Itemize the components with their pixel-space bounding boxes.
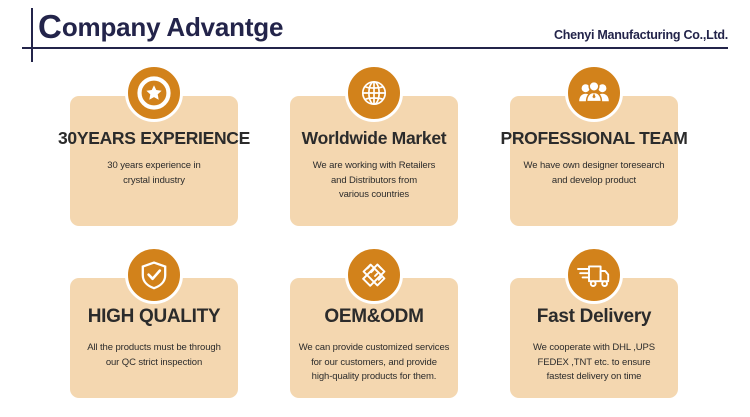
description-line: FEDEX ,TNT etc. to ensure [533,356,655,371]
advantage-card: OEM&ODM We can provide customized servic… [290,278,458,398]
page-header: Company Advantge Chenyi Manufacturing Co… [0,0,750,70]
description-line: 30 years experience in [107,159,200,174]
people-group-icon [565,64,623,122]
advantage-card-description: We cooperate with DHL ,UPS FEDEX ,TNT et… [533,341,655,385]
page-title-initial: C [38,8,62,45]
description-line: our QC strict inspection [87,356,221,371]
advantage-card-description: We have own designer toresearch and deve… [524,159,665,188]
globe-icon [345,64,403,122]
advantage-card: PROFESSIONAL TEAM We have own designer t… [510,96,678,226]
advantage-card-description: We can provide customized services for o… [299,341,450,385]
description-line: and develop product [524,174,665,189]
description-line: for our customers, and provide [299,356,450,371]
page-title-rest: ompany Advantge [62,12,283,42]
page-title: Company Advantge [38,9,283,45]
description-line: All the products must be through [87,341,221,356]
description-line: fastest delivery on time [533,370,655,385]
advantage-card-grid: 30YEARS EXPERIENCE 30 years experience i… [70,96,678,398]
advantage-card-title: HIGH QUALITY [88,306,221,328]
description-line: and Distributors from [313,174,436,189]
header-horizontal-rule [22,47,728,49]
description-line: We are working with Retailers [313,159,436,174]
advantage-card: 30YEARS EXPERIENCE 30 years experience i… [70,96,238,226]
company-name: Chenyi Manufacturing Co.,Ltd. [554,28,728,42]
advantage-card-title: 30YEARS EXPERIENCE [58,128,250,148]
description-line: high-quality products for them. [299,370,450,385]
advantage-card-title: Fast Delivery [537,306,651,328]
description-line: We can provide customized services [299,341,450,356]
advantage-card-title: Worldwide Market [302,128,447,148]
advantage-card-title: PROFESSIONAL TEAM [500,128,687,148]
description-line: crystal industry [107,174,200,189]
shield-check-icon [125,246,183,304]
advantage-card-title: OEM&ODM [324,306,423,328]
advantage-card-description: We are working with Retailers and Distri… [313,159,436,203]
pencil-ruler-icon [345,246,403,304]
description-line: We have own designer toresearch [524,159,665,174]
description-line: various countries [313,188,436,203]
star-badge-icon [125,64,183,122]
header-vertical-rule [31,8,33,62]
advantage-card: Fast Delivery We cooperate with DHL ,UPS… [510,278,678,398]
advantage-card: HIGH QUALITY All the products must be th… [70,278,238,398]
advantage-card: Worldwide Market We are working with Ret… [290,96,458,226]
delivery-truck-icon [565,246,623,304]
advantage-card-description: All the products must be through our QC … [87,341,221,370]
description-line: We cooperate with DHL ,UPS [533,341,655,356]
advantage-card-description: 30 years experience in crystal industry [107,159,200,188]
